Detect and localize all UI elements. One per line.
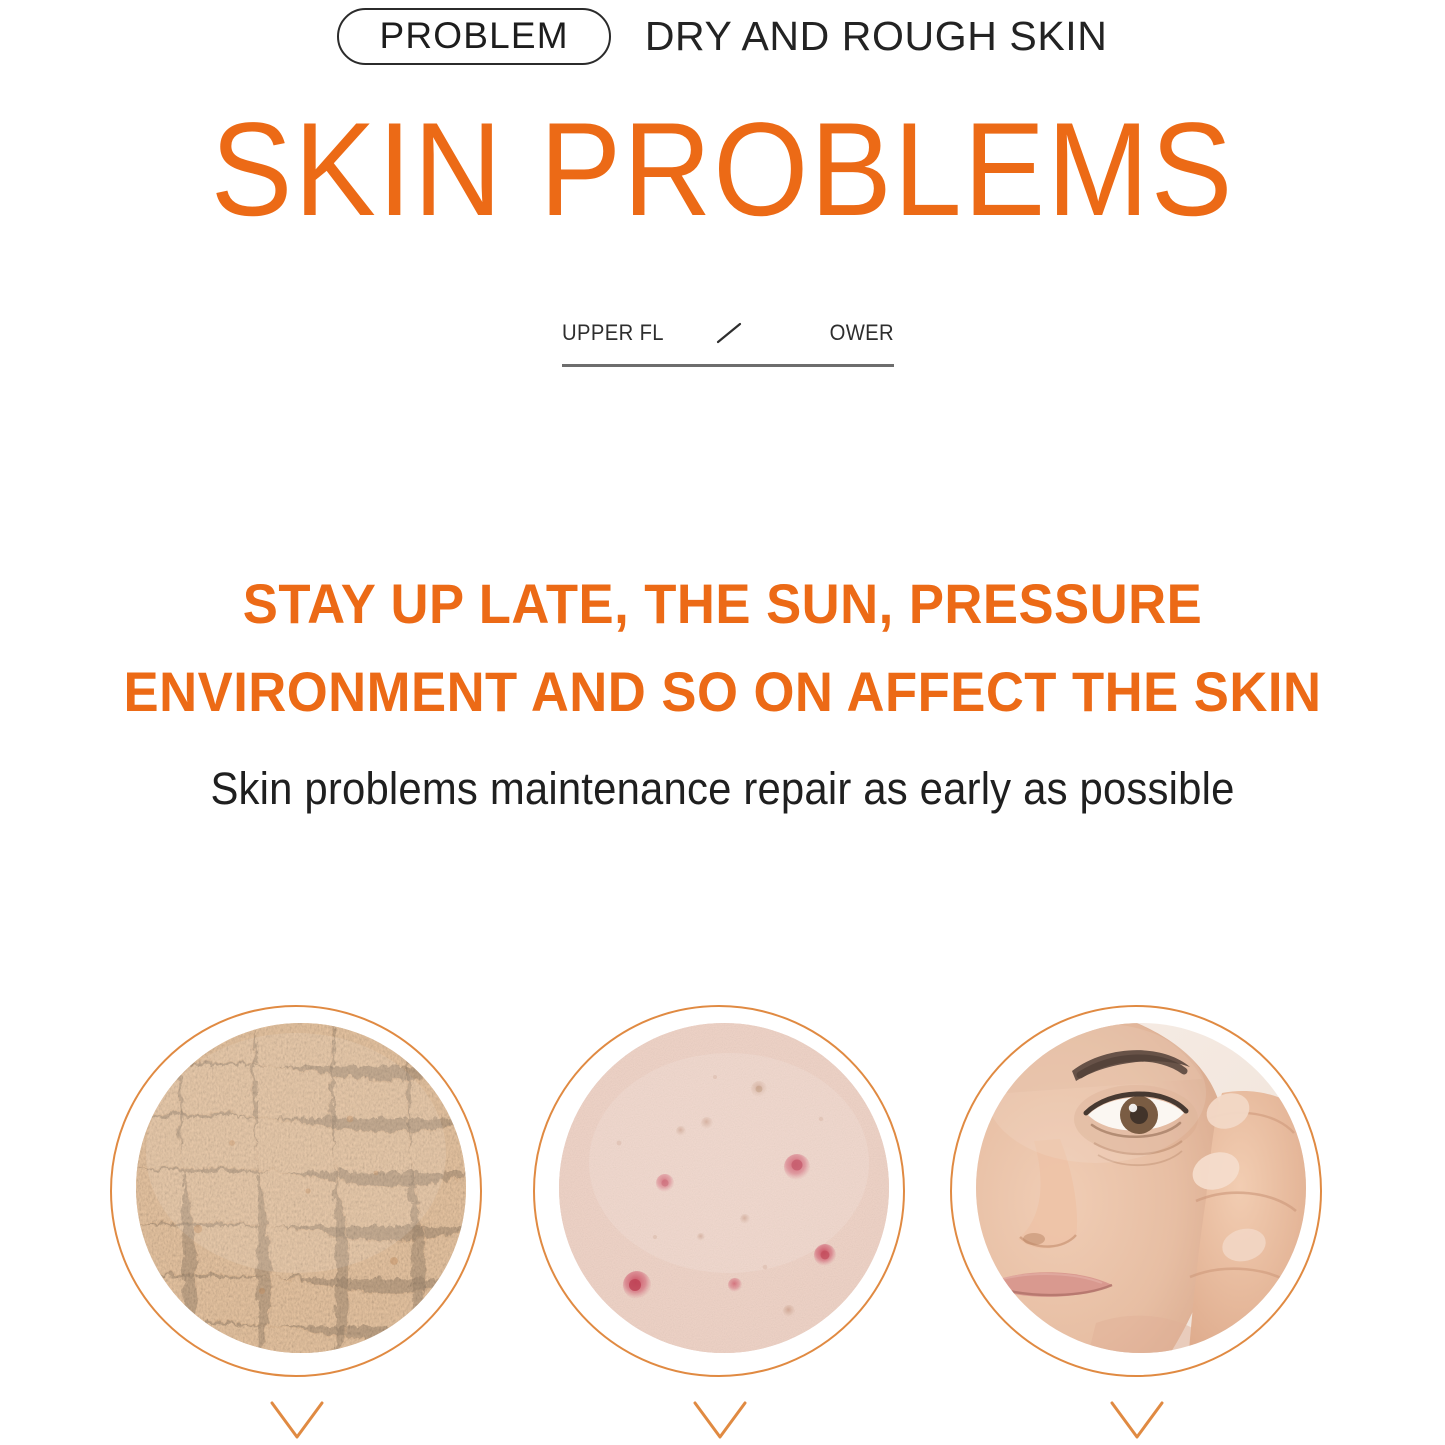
headline-line-2: ENVIRONMENT AND SO ON AFFECT THE SKIN — [43, 648, 1401, 736]
subtitle: Skin problems maintenance repair as earl… — [51, 766, 1395, 811]
divider-row: UPPER FL OWER — [562, 316, 894, 350]
divider-left-label: UPPER FL — [562, 322, 664, 344]
dry-rough-skin-photo — [136, 1023, 466, 1353]
problem-badge: PROBLEM — [337, 8, 610, 65]
problem-circle-row — [0, 1005, 1445, 1445]
problem-circle-acne-blemish — [533, 1005, 923, 1445]
chevron-down-icon — [264, 1397, 330, 1443]
chevron-down-icon — [687, 1397, 753, 1443]
acne-blemish-photo — [559, 1023, 889, 1353]
problem-circle-woman-face — [950, 1005, 1340, 1445]
eyebrow-row: PROBLEM DRY AND ROUGH SKIN — [0, 8, 1445, 65]
woman-face-photo — [976, 1023, 1306, 1353]
slash-icon — [716, 322, 742, 344]
page-title: SKIN PROBLEMS — [58, 104, 1387, 237]
divider-right-label: OWER — [830, 322, 894, 344]
upper-lower-divider: UPPER FL OWER — [562, 316, 894, 367]
divider-rule — [562, 364, 894, 367]
skin-problems-page: PROBLEM DRY AND ROUGH SKIN SKIN PROBLEMS… — [0, 0, 1445, 1445]
problem-circle-dry-rough-skin — [110, 1005, 500, 1445]
chevron-down-icon — [1104, 1397, 1170, 1443]
headline-line-1: STAY UP LATE, THE SUN, PRESSURE — [43, 560, 1401, 648]
headline: STAY UP LATE, THE SUN, PRESSURE ENVIRONM… — [43, 560, 1401, 736]
problem-tagline: DRY AND ROUGH SKIN — [645, 16, 1108, 57]
